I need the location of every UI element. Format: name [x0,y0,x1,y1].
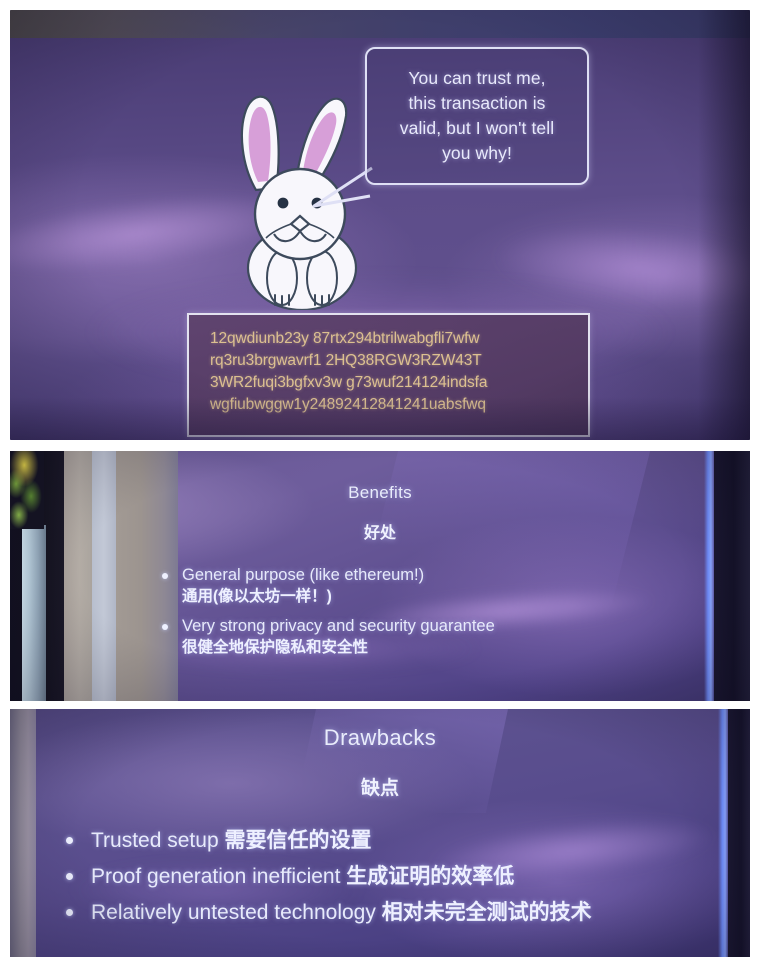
speech-bubble-text: You can trust me, this transaction is va… [390,66,564,165]
photo-strip: You can trust me, this transaction is va… [0,0,760,968]
rabbit-illustration [222,82,382,310]
bullet-text-en: Very strong privacy and security guarant… [182,617,495,635]
bullet-text-en: Relatively untested technology [91,901,382,924]
drawbacks-bullet-list: Trusted setup 需要信任的设置 Proof generation i… [66,826,750,927]
bullet-text-en: General purpose (like ethereum!) [182,566,424,584]
bullet-dot-icon [66,873,73,880]
panel-drawbacks-slide: Drawbacks 缺点 Trusted setup 需要信任的设置 Proof… [10,709,750,957]
speech-bubble: You can trust me, this transaction is va… [365,47,589,185]
bullet-text-zh: 很健全地保护隐私和安全性 [182,639,368,656]
bullet-text-zh: 相对未完全测试的技术 [382,901,592,924]
ceiling-strip [10,10,750,38]
bullet-dot-icon [66,837,73,844]
bottom-shadow [10,397,750,440]
bullet-body: Trusted setup 需要信任的设置 [91,826,700,856]
bullet-text-zh: 需要信任的设置 [224,829,371,852]
right-edge-shadow [698,10,750,440]
bullet-dot-icon [162,624,168,630]
bullet-text-zh: 通用(像以太坊一样！) [182,588,332,605]
list-item: Relatively untested technology 相对未完全测试的技… [66,898,700,928]
hash-line: 12qwdiunb23y 87rtx294btrilwabgfli7wfw [210,328,574,350]
bullet-body: Proof generation inefficient 生成证明的效率低 [91,862,700,892]
benefits-content: Benefits 好处 General purpose (like ethere… [10,451,750,701]
list-item: Trusted setup 需要信任的设置 [66,826,700,856]
slide-title-benefits: Benefits [10,451,750,503]
hash-line: 3WR2fuqi3bgfxv3w g73wuf214124indsfa [210,372,574,394]
slide-title-drawbacks: Drawbacks [10,709,750,751]
list-item: General purpose (like ethereum!) 通用(像以太坊… [162,565,750,608]
list-item: Proof generation inefficient 生成证明的效率低 [66,862,700,892]
bullet-body: Very strong privacy and security guarant… [182,616,750,659]
bullet-text-en: Trusted setup [91,829,224,852]
bullet-dot-icon [162,573,168,579]
drawbacks-content: Drawbacks 缺点 Trusted setup 需要信任的设置 Proof… [10,709,750,957]
bullet-text-en: Proof generation inefficient [91,865,346,888]
slide-subtitle-drawbacks-zh: 缺点 [10,751,750,800]
hash-line: rq3ru3brgwavrf1 2HQ38RGW3RZW43T [210,350,574,372]
panel-bunny-slide: You can trust me, this transaction is va… [10,10,750,440]
bullet-body: Relatively untested technology 相对未完全测试的技… [91,898,700,928]
bullet-body: General purpose (like ethereum!) 通用(像以太坊… [182,565,750,608]
benefits-bullet-list: General purpose (like ethereum!) 通用(像以太坊… [162,565,750,659]
slide-subtitle-benefits-zh: 好处 [10,503,750,543]
list-item: Very strong privacy and security guarant… [162,616,750,659]
bullet-text-zh: 生成证明的效率低 [346,865,514,888]
bullet-dot-icon [66,909,73,916]
panel-benefits-slide: Benefits 好处 General purpose (like ethere… [10,451,750,701]
